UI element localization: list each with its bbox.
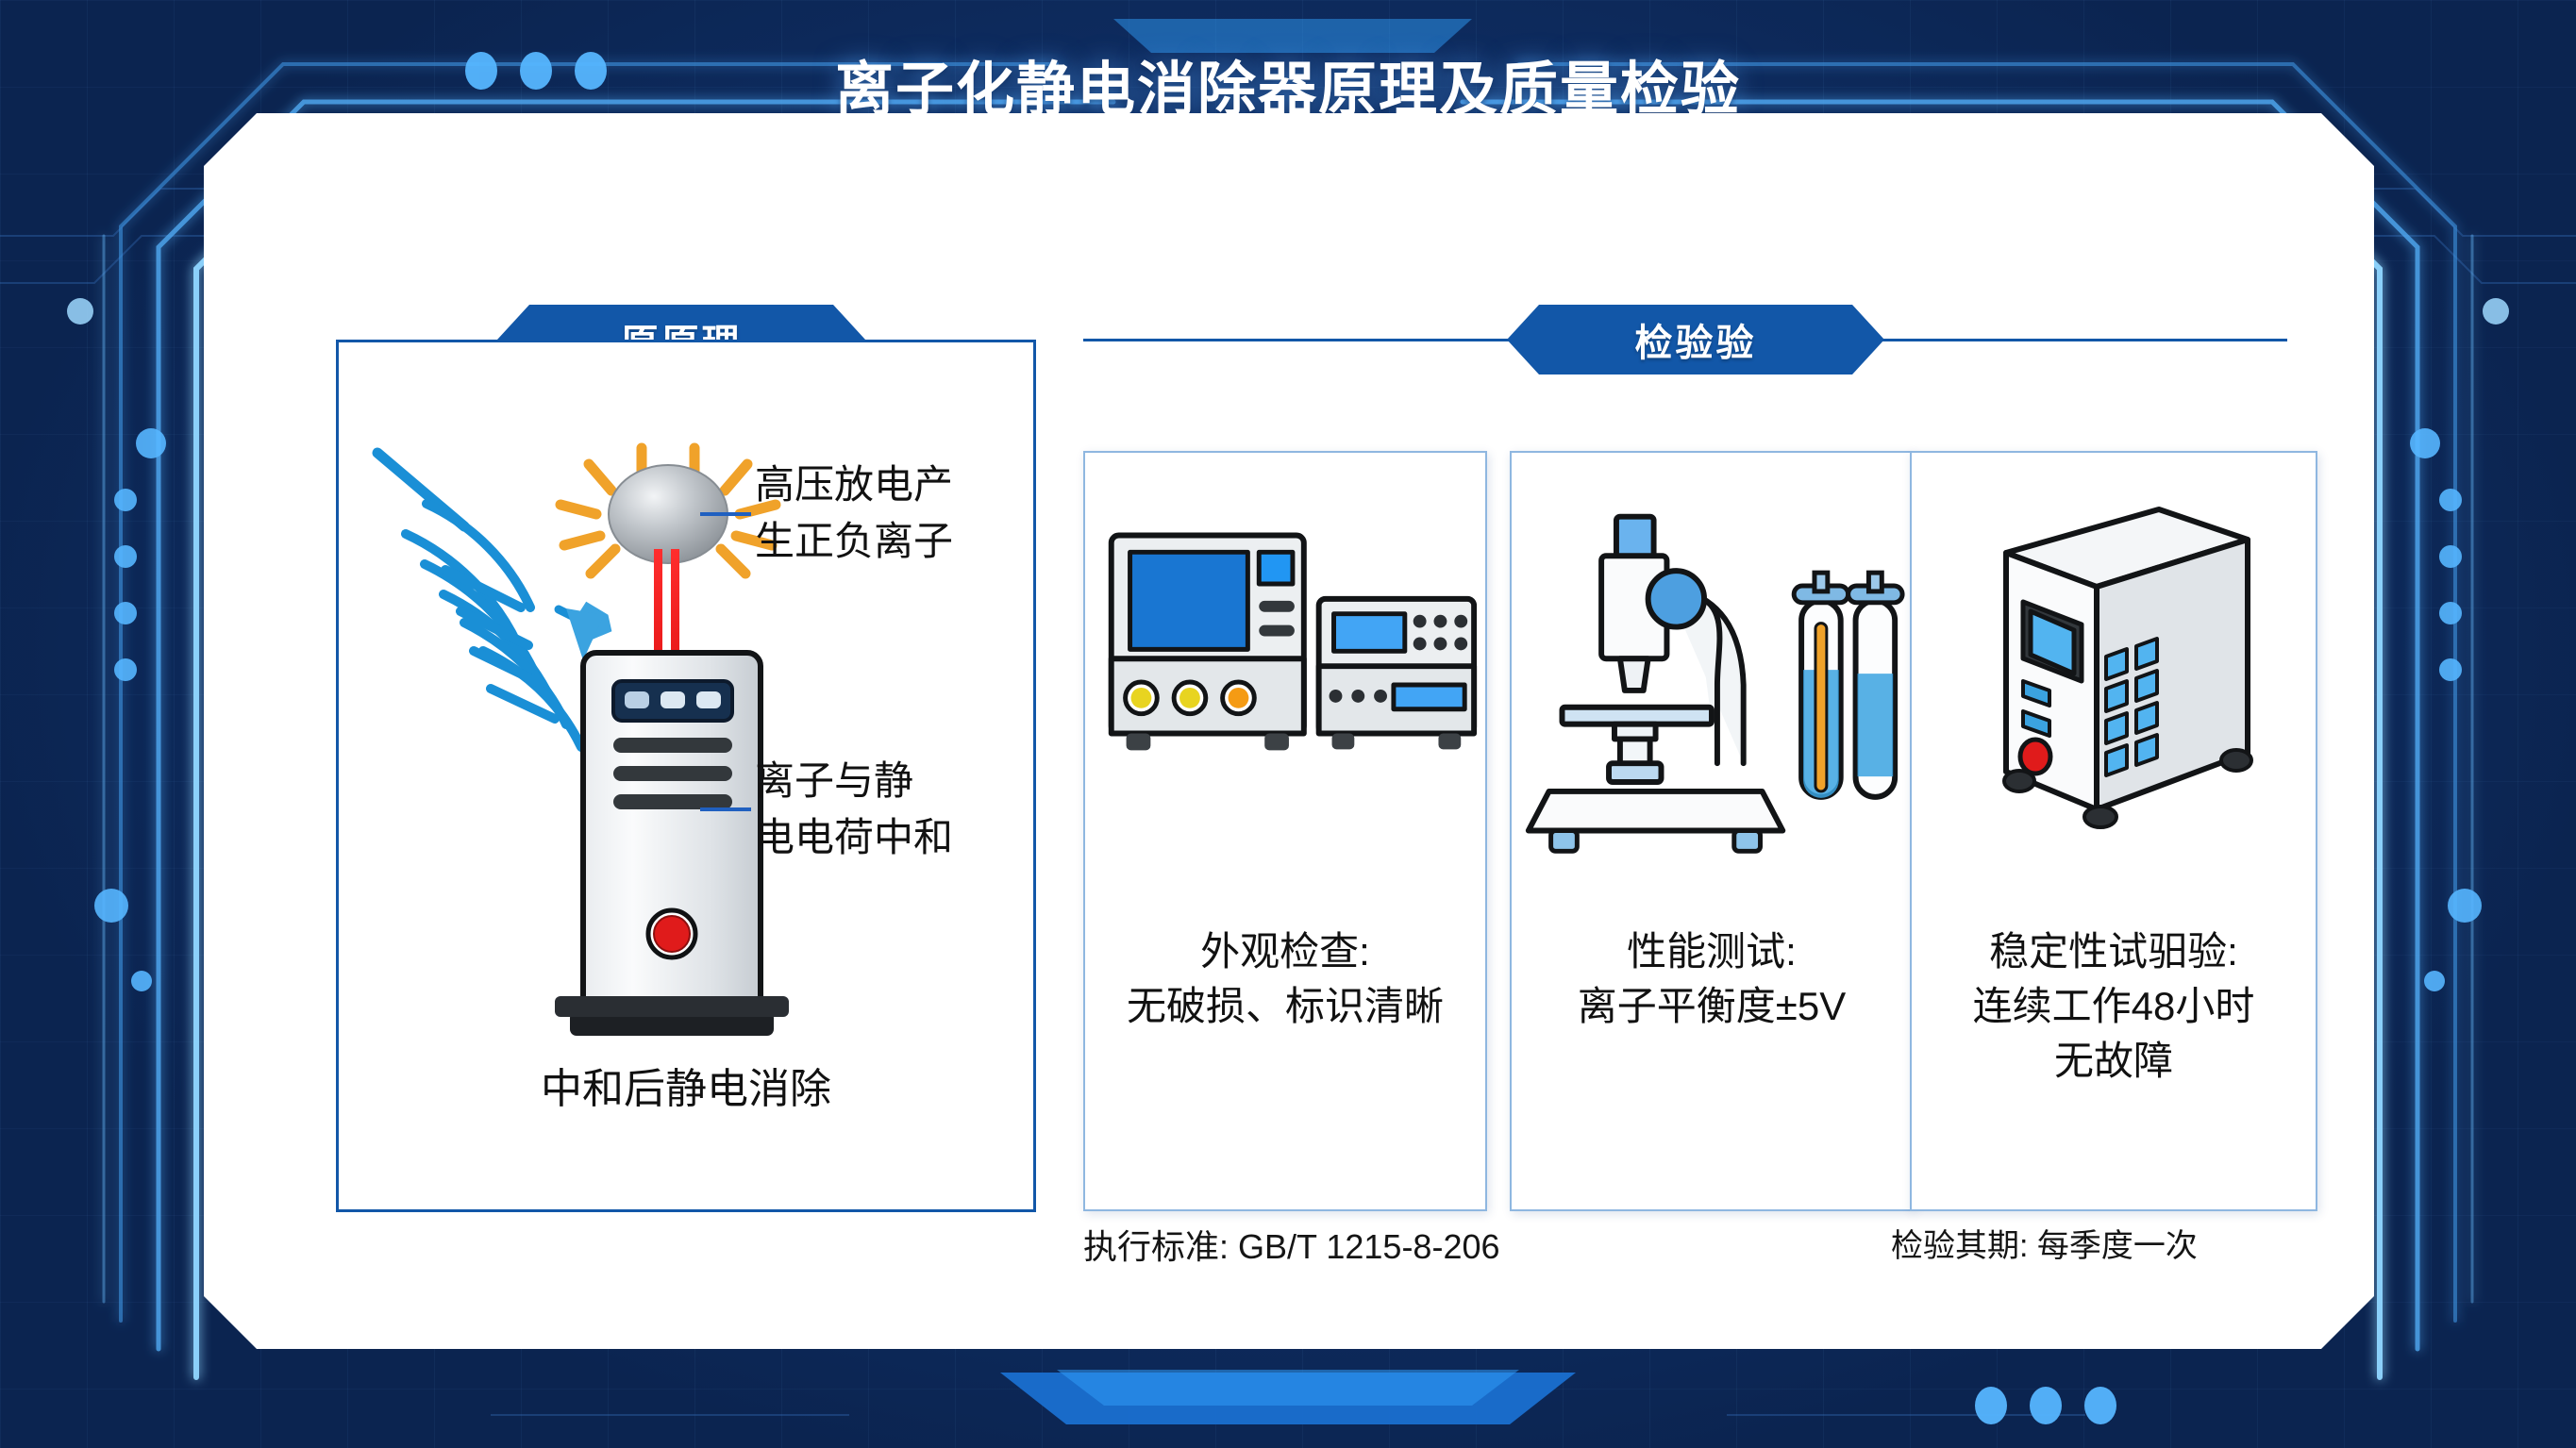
inspection-card-stability-detail: 连续工作48小时 无故障: [1917, 979, 2310, 1089]
infographic-canvas: 离子化静电消除器原理及质量检验 原原理 检验验: [0, 0, 2576, 1448]
inspection-card-performance[interactable]: 性能测试: 离子平衡度±5V: [1510, 451, 1914, 1211]
footnote-standard: 执行标准: GB/T 1215-8-206: [1083, 1220, 1500, 1269]
banner-rule-left: [1083, 339, 1510, 341]
test-instrument-icon: [1085, 481, 1485, 887]
inspection-card-performance-detail: 离子平衡度±5V: [1517, 979, 1906, 1034]
dot-cluster-bottom: [1975, 1387, 2116, 1424]
section-banner-inspection-label: 检验验: [1635, 312, 1757, 367]
inspection-card-appearance-title: 外观检查:: [1091, 924, 1480, 979]
section-banner-inspection: 检验验: [1507, 305, 1884, 374]
inspection-card-performance-title: 性能测试:: [1517, 924, 1906, 979]
inspection-card-stability-text: 稳定性试驲验: 连续工作48小时 无故障: [1912, 924, 2316, 1089]
inspection-card-stability-title: 稳定性试驲验:: [1917, 924, 2310, 979]
inspection-card-appearance-text: 外观检查: 无破损、标识清晰: [1085, 924, 1485, 1034]
inspection-card-stability[interactable]: 稳定性试驲验: 连续工作48小时 无故障: [1910, 451, 2317, 1211]
dot-column-right: [2410, 428, 2482, 991]
inspection-card-appearance-detail: 无破损、标识清晰: [1091, 979, 1480, 1034]
callout-neutralize: 离子与静 电电荷中和: [755, 753, 953, 865]
footnote-period: 检验其期: 每季度一次: [1891, 1220, 2198, 1266]
banner-rule-right: [1882, 339, 2287, 341]
callout-high-voltage: 高压放电产 生正负离子: [755, 457, 953, 569]
control-cabinet-icon: [1912, 481, 2316, 887]
inspection-card-performance-text: 性能测试: 离子平衡度±5V: [1512, 924, 1912, 1034]
inspection-card-appearance[interactable]: 外观检查: 无破损、标识清晰: [1083, 451, 1487, 1211]
bottom-chevron-decor: [1000, 1370, 1576, 1424]
dot-column-left: [94, 428, 166, 991]
principle-caption: 中和后静电消除: [336, 1055, 1036, 1115]
microscope-icon: [1512, 481, 1912, 887]
